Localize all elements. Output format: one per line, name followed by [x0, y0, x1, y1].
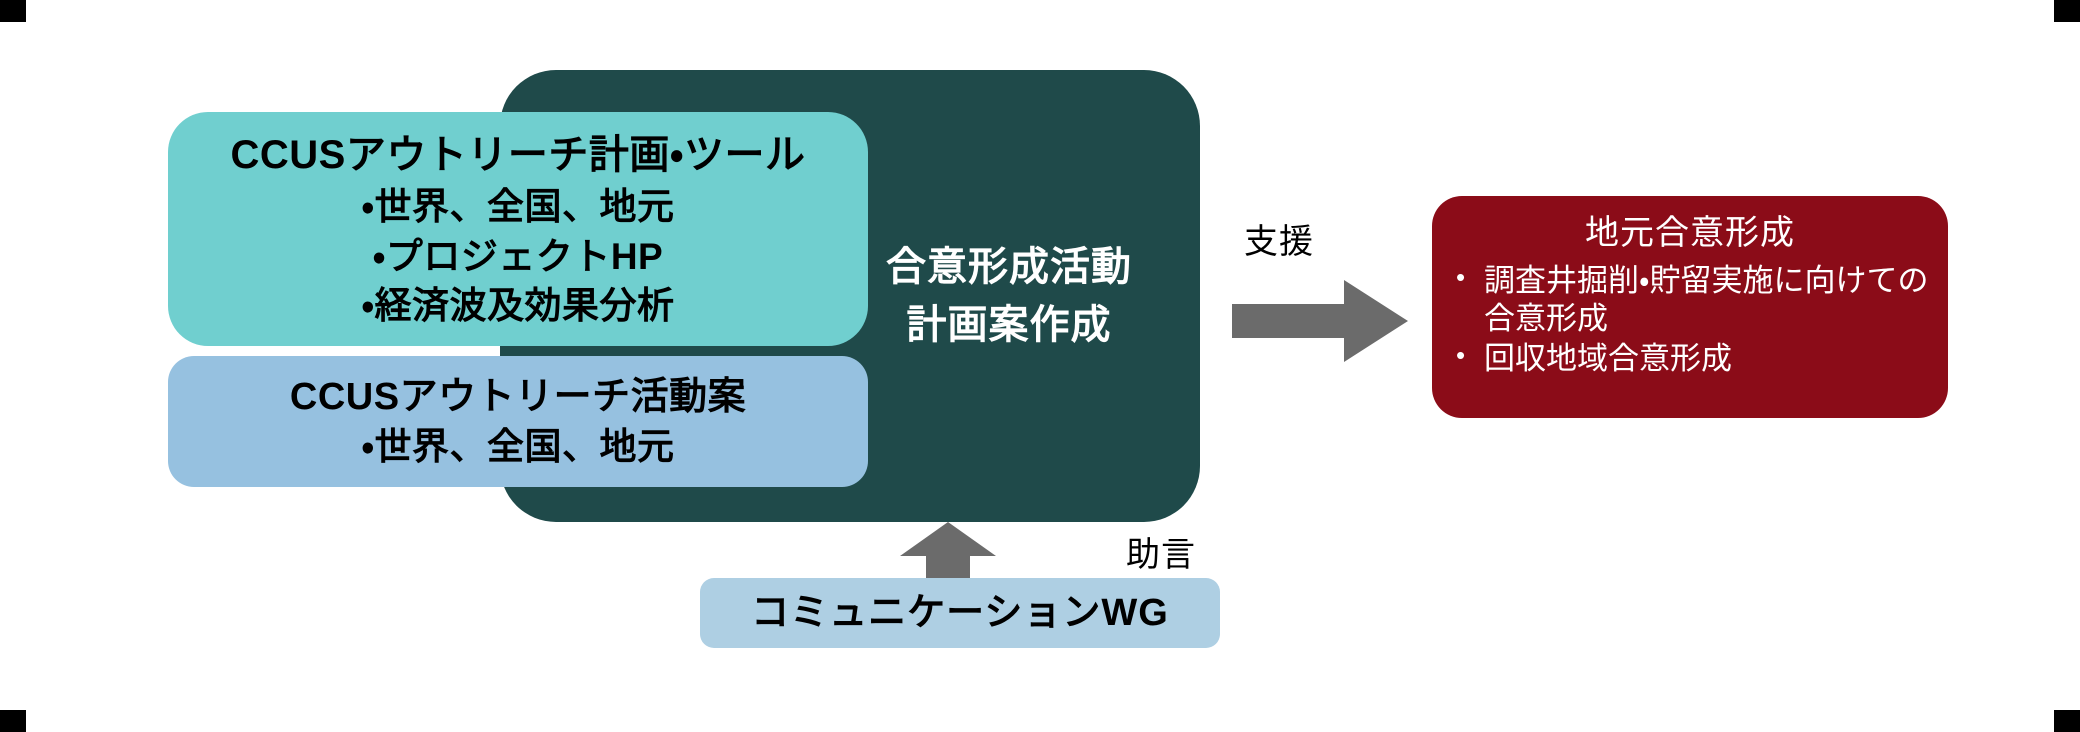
local-consensus-bullet-2: 回収地域合意形成 — [1450, 340, 1930, 378]
crop-mark-top-right — [2054, 0, 2080, 22]
diagram-canvas: 合意形成活動 計画案作成 CCUSアウトリーチ計画・ツール ・世界、全国、地元 … — [0, 0, 2080, 732]
outreach-activity-item-1: ・世界、全国、地元 — [361, 423, 674, 470]
outreach-plan-box: CCUSアウトリーチ計画・ツール ・世界、全国、地元 ・プロジェクトHP ・経済… — [168, 112, 868, 346]
outreach-plan-item-1: ・世界、全国、地元 — [361, 183, 674, 230]
local-consensus-box: 地元合意形成 調査井掘削・貯留実施に向けての合意形成 回収地域合意形成 — [1432, 196, 1948, 418]
outreach-activity-title: CCUSアウトリーチ活動案 — [290, 373, 746, 422]
crop-mark-top-left — [0, 0, 26, 22]
center-process-line-1: 合意形成活動 — [844, 238, 1174, 296]
communication-wg-title: コミュニケーションWG — [751, 589, 1169, 638]
crop-mark-bottom-right — [2054, 710, 2080, 732]
outreach-plan-item-3: ・経済波及効果分析 — [361, 282, 674, 329]
advice-label: 助言 — [1126, 527, 1196, 576]
local-consensus-bullet-1: 調査井掘削・貯留実施に向けての合意形成 — [1450, 262, 1930, 339]
arrow-right-icon — [1232, 280, 1408, 362]
center-process-line-2: 計画案作成 — [844, 296, 1174, 354]
support-label: 支援 — [1244, 214, 1314, 263]
communication-wg-box: コミュニケーションWG — [700, 578, 1220, 648]
crop-mark-bottom-left — [0, 710, 26, 732]
arrow-up-icon — [900, 522, 996, 582]
center-process-text: 合意形成活動 計画案作成 — [844, 238, 1174, 354]
local-consensus-list: 調査井掘削・貯留実施に向けての合意形成 回収地域合意形成 — [1450, 262, 1930, 381]
outreach-activity-box: CCUSアウトリーチ活動案 ・世界、全国、地元 — [168, 356, 868, 487]
outreach-plan-item-2: ・プロジェクトHP — [373, 233, 663, 280]
local-consensus-title: 地元合意形成 — [1450, 212, 1930, 256]
outreach-plan-title: CCUSアウトリーチ計画・ツール — [231, 130, 806, 181]
